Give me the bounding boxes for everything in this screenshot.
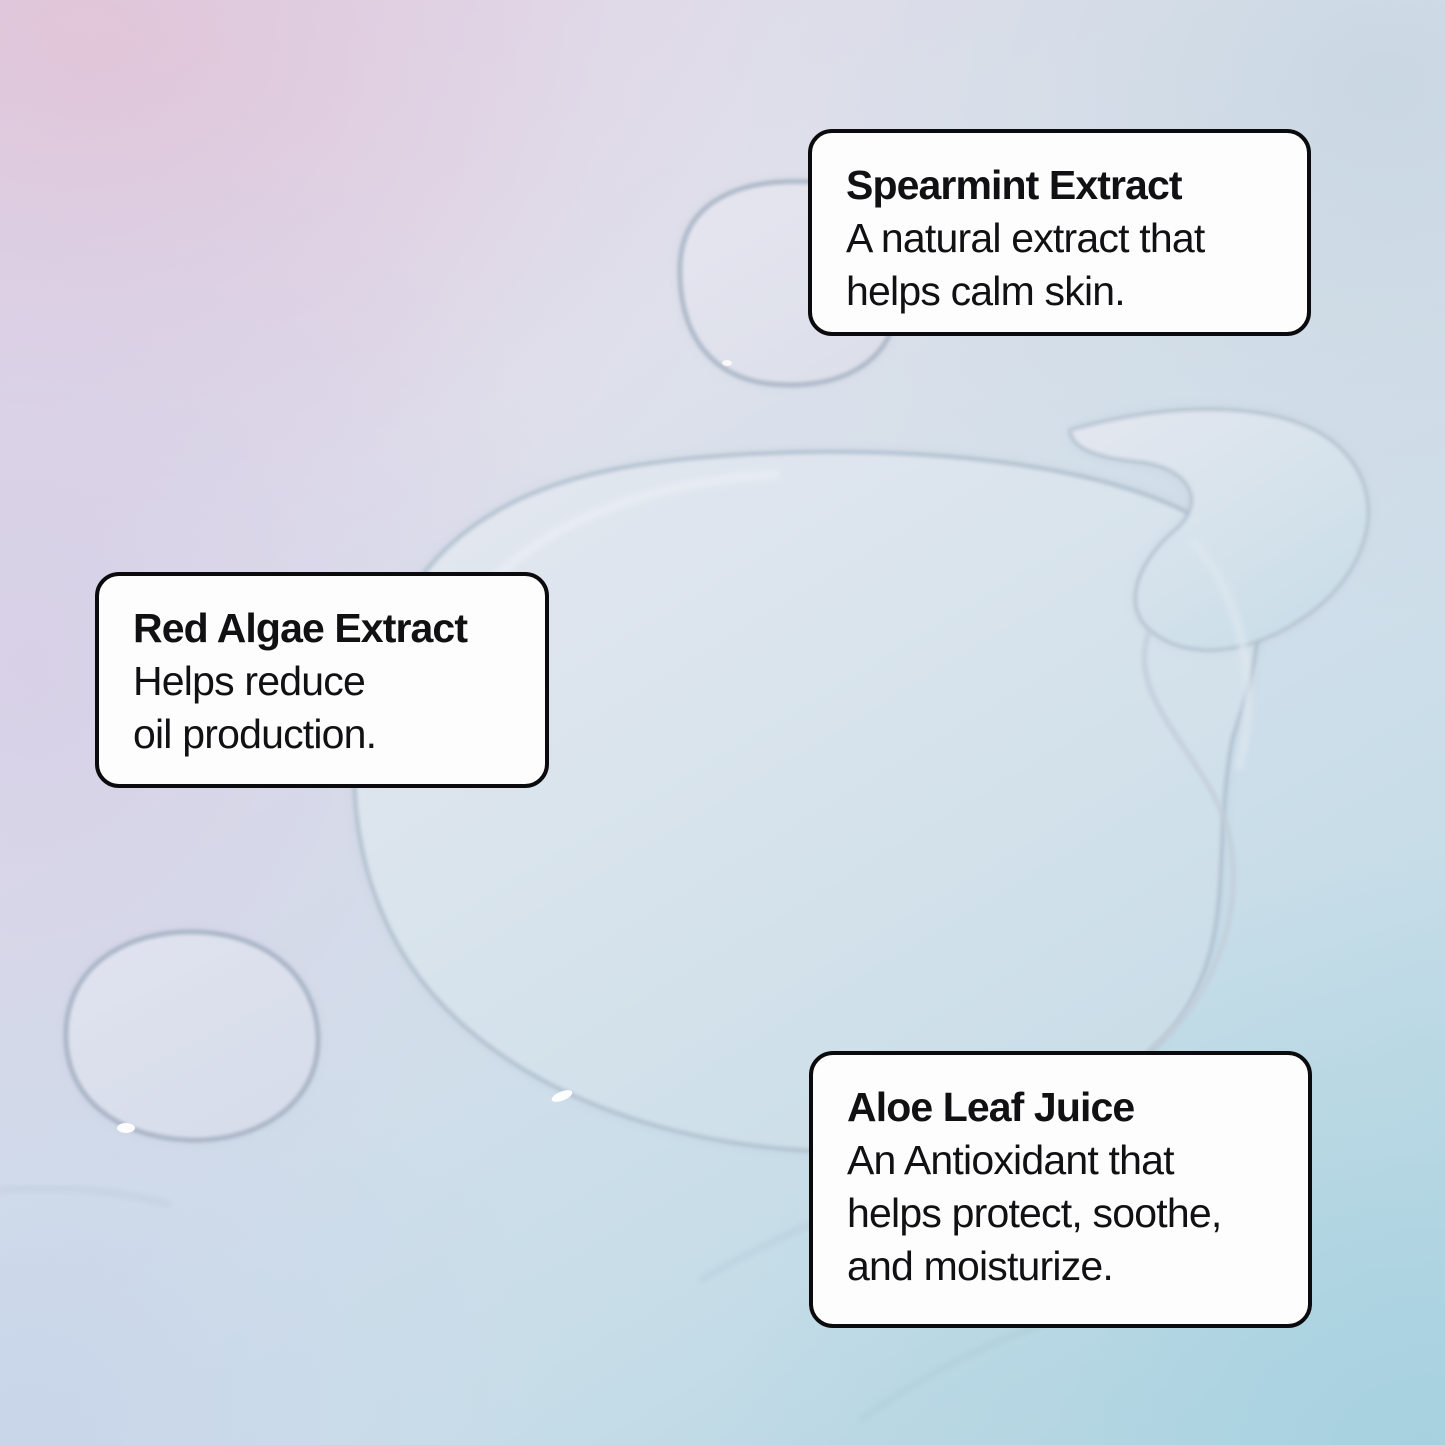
- ingredient-card-spearmint: Spearmint Extract A natural extract that…: [808, 129, 1311, 336]
- card-title-aloe: Aloe Leaf Juice: [847, 1081, 1278, 1134]
- card-body-spearmint: A natural extract that helps calm skin.: [846, 212, 1277, 318]
- ingredient-card-red-algae: Red Algae Extract Helps reduce oil produ…: [95, 572, 549, 788]
- ingredient-card-aloe: Aloe Leaf Juice An Antioxidant that help…: [809, 1051, 1312, 1328]
- ingredient-callout-image: Spearmint Extract A natural extract that…: [0, 0, 1445, 1445]
- card-content-red-algae: Red Algae Extract Helps reduce oil produ…: [99, 576, 545, 785]
- card-body-aloe: An Antioxidant that helps protect, sooth…: [847, 1134, 1278, 1293]
- gel-blob-large: [355, 452, 1258, 1151]
- gel-lobe-upper-right: [1070, 409, 1368, 650]
- card-title-spearmint: Spearmint Extract: [846, 159, 1277, 212]
- card-content-aloe: Aloe Leaf Juice An Antioxidant that help…: [813, 1055, 1308, 1317]
- gel-droplet-bottom-left: [66, 932, 318, 1140]
- card-title-red-algae: Red Algae Extract: [133, 602, 515, 655]
- card-body-red-algae: Helps reduce oil production.: [133, 655, 515, 761]
- gel-tail-right: [1144, 540, 1248, 1050]
- card-content-spearmint: Spearmint Extract A natural extract that…: [812, 133, 1307, 336]
